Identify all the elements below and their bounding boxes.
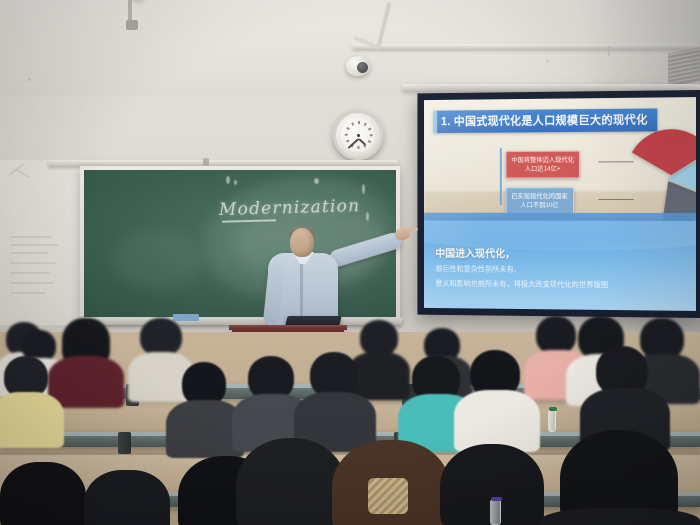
slide-summary-panel: 中国进入现代化， 艰巨性和复杂性前所未有， 意义和影响也前所未有，将极大改变现代… — [424, 228, 696, 311]
callout-red: 中国将整体迈入现代化 人口达14亿+ — [506, 151, 580, 179]
chalk-tray — [78, 318, 402, 325]
lecture-hall-photo: 中国将整体迈入现代化 人口达14亿+ 已实现现代化的国家 人口不到10亿 中国进… — [0, 0, 700, 525]
summary-line-2: 意义和影响也前所未有，将极大改变现代化的世界版图 — [435, 278, 608, 290]
water-bottle[interactable] — [548, 410, 556, 432]
green-chalkboard[interactable]: Modernization — [84, 170, 396, 317]
callout-blue-line2: 人口不到10亿 — [511, 201, 567, 210]
left-wall-panel — [0, 160, 82, 325]
wall-clock — [333, 110, 383, 160]
lecturer-head — [290, 228, 314, 257]
clock-face — [341, 118, 375, 152]
summary-heading: 中国进入现代化， — [435, 246, 515, 261]
pie-chart — [626, 129, 696, 221]
hair-clip — [368, 478, 408, 514]
bench-leg — [118, 432, 131, 454]
water-bottle[interactable] — [490, 500, 501, 525]
eraser-box[interactable] — [173, 314, 199, 321]
wall-mark — [608, 46, 610, 56]
slide-title-text: 1. 中国式现代化是人口规模巨大的现代化 — [441, 114, 648, 128]
chalkboard-frame: Modernization — [80, 166, 400, 321]
slide-surface: 中国将整体迈入现代化 人口达14亿+ 已实现现代化的国家 人口不到10亿 中国进… — [424, 97, 696, 311]
callout-blue-line1: 已实现现代化的国家 — [511, 192, 567, 201]
light-mount — [126, 20, 138, 30]
callout-red-line2: 人口达14亿+ — [511, 165, 574, 174]
clock-hour-hand — [358, 138, 366, 146]
callout-red-line1: 中国将整体迈入现代化 — [511, 156, 574, 165]
slide-accent-bar — [500, 148, 502, 205]
summary-line-1: 艰巨性和复杂性前所未有， — [435, 263, 521, 274]
slide-title: 1. 中国式现代化是人口规模巨大的现代化 — [433, 108, 657, 133]
camera-lens — [357, 62, 368, 73]
shirt-placket — [300, 260, 303, 322]
title-notch — [433, 111, 437, 133]
leader-line-red — [598, 161, 633, 162]
clock-center — [357, 134, 360, 137]
wall-mark — [28, 78, 31, 81]
projection-screen[interactable]: 中国将整体迈入现代化 人口达14亿+ 已实现现代化的国家 人口不到10亿 中国进… — [417, 90, 700, 318]
chalk-text: Modernization — [219, 196, 361, 220]
wall-mark — [546, 60, 549, 63]
callout-blue: 已实现现代化的国家 人口不到10亿 — [506, 187, 574, 215]
leader-line-blue — [598, 199, 633, 200]
